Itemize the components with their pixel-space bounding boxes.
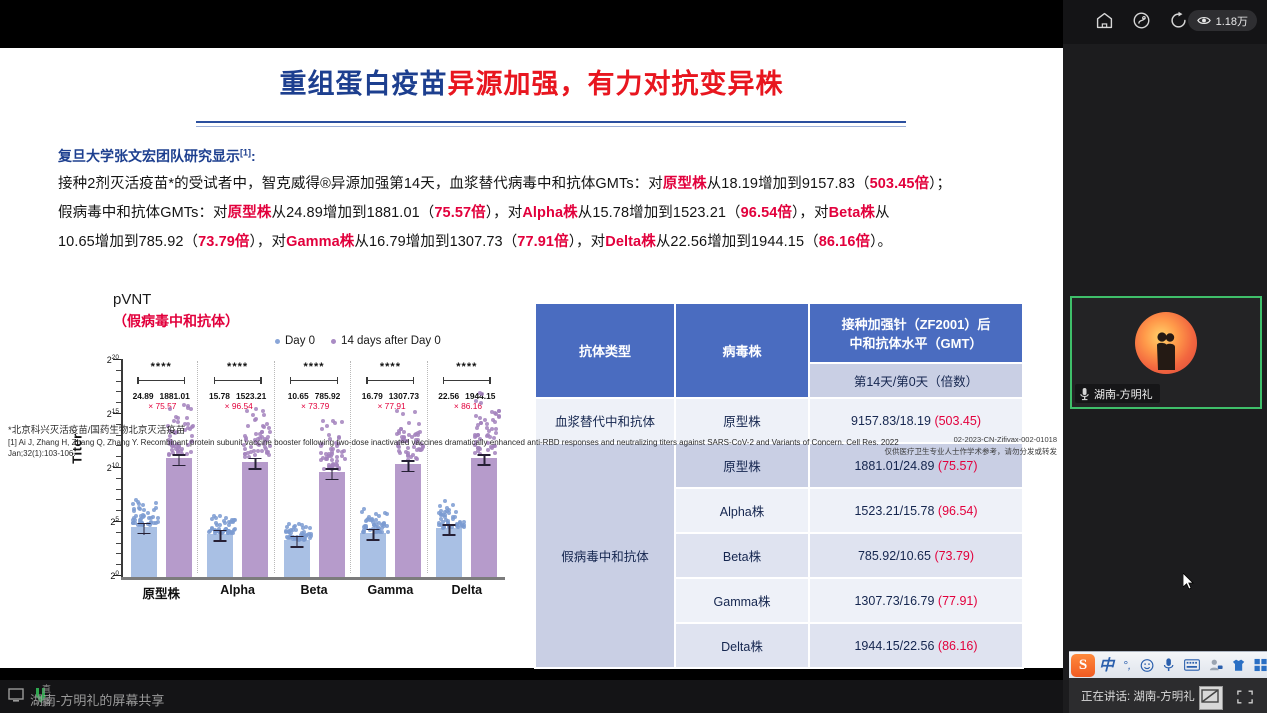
footnote-code-block: 02-2023-CN-Zifivax-002-01018 仅供医疗卫生专业人士作… <box>885 434 1058 458</box>
value-fold: (96.54) <box>938 504 978 518</box>
x-tick-label: Gamma <box>352 583 428 602</box>
body-l3-f3: 73.79倍 <box>198 234 249 250</box>
data-point <box>185 416 189 420</box>
y-minor-tick <box>116 381 121 382</box>
table-cell-value: 1307.73/16.79 (77.91) <box>809 578 1023 623</box>
bar-day14 <box>319 472 345 577</box>
data-point <box>497 409 501 413</box>
data-point <box>380 530 384 534</box>
sogou-logo-icon[interactable]: S <box>1071 654 1095 677</box>
body-l3f: ）。 <box>870 234 892 250</box>
data-point <box>208 529 212 533</box>
value-text: 1944.15/22.56 <box>854 639 934 653</box>
value-fold: (75.57) <box>938 459 978 473</box>
ime-user-icon[interactable] <box>1209 658 1223 672</box>
speaking-status-label: 正在讲话: 湖南-方明礼 <box>1069 688 1195 704</box>
y-minor-tick <box>116 489 121 490</box>
data-point <box>437 511 441 515</box>
bar-day14 <box>166 458 192 577</box>
body-l1-fold: 503.45倍 <box>870 176 930 192</box>
chart-title: pVNT <box>113 291 151 308</box>
data-point <box>418 430 422 434</box>
data-point <box>382 524 386 528</box>
body-l2f: 从 <box>875 205 890 221</box>
y-major-tick <box>113 575 121 576</box>
table-cell-type: 假病毒中和抗体 <box>535 443 675 668</box>
data-point <box>261 424 265 428</box>
chart-group: ****10.65785.92× 73.79 <box>276 359 352 577</box>
data-point <box>321 419 325 423</box>
data-point <box>320 427 324 431</box>
data-point <box>333 421 337 425</box>
data-point <box>309 534 313 538</box>
gmt-table: 抗体类型 病毒株 接种加强针（ZF2001）后 中和抗体水平（GMT） 第14天… <box>534 302 1024 669</box>
data-point <box>480 392 484 396</box>
data-point <box>437 523 441 527</box>
ime-emoji-icon[interactable] <box>1140 658 1154 673</box>
data-point <box>360 510 364 514</box>
data-point <box>413 410 417 414</box>
data-point <box>493 420 497 424</box>
body-l3b: ），对 <box>250 234 287 250</box>
ime-voice-input-icon[interactable] <box>1163 657 1174 673</box>
mouse-cursor <box>1183 573 1195 591</box>
body-l3c: 从16.79增加到1307.73（ <box>354 234 517 250</box>
avatar <box>1135 312 1197 374</box>
title-underline-thin <box>196 126 906 127</box>
value-fold: (503.45) <box>934 414 981 428</box>
y-minor-tick <box>116 478 121 479</box>
x-tick-label: Alpha <box>199 583 275 602</box>
bar-pair <box>123 359 199 577</box>
title-underline <box>196 121 906 123</box>
data-point <box>154 501 158 505</box>
table-cell-value: 1944.15/22.56 (86.16) <box>809 623 1023 668</box>
chart-group: ****16.791307.73× 77.91 <box>352 359 428 577</box>
data-point <box>152 508 156 512</box>
eye-icon <box>1197 15 1211 26</box>
bar-day0 <box>207 534 233 577</box>
body-l3a: 10.65增加到785.92（ <box>58 234 198 250</box>
data-point <box>362 507 366 511</box>
data-point <box>407 421 411 425</box>
data-point <box>254 407 258 411</box>
data-point <box>287 522 291 526</box>
data-point <box>297 522 301 526</box>
legend-item-day14: 14 days after Day 0 <box>331 335 441 347</box>
body-l2d: 从15.78增加到1523.21（ <box>578 205 741 221</box>
body-l3e: 从22.56增加到1944.15（ <box>656 234 819 250</box>
bar-day14 <box>395 464 421 577</box>
lead-superscript: [1] <box>240 147 251 157</box>
body-l3-s4: Gamma株 <box>286 234 354 250</box>
data-point <box>168 407 172 411</box>
body-l2a: 假病毒中和抗体GMTs：对 <box>58 205 228 221</box>
refresh-icon[interactable] <box>1169 11 1188 30</box>
ime-soft-keyboard-icon[interactable] <box>1184 659 1200 671</box>
title-part-blue: 重组蛋白疫苗 <box>280 69 448 99</box>
data-point <box>438 504 442 508</box>
ime-apps-icon[interactable] <box>1254 658 1267 672</box>
top-toolbar-icons <box>1095 11 1188 30</box>
data-point <box>417 422 421 426</box>
body-l1-strain: 原型株 <box>663 176 707 192</box>
data-point <box>443 499 447 503</box>
x-tick-label: Delta <box>429 583 505 602</box>
chart-plot-area: Titer 220 215 210 25 20 <box>75 359 505 601</box>
data-point <box>190 425 194 429</box>
y-minor-tick <box>116 510 121 511</box>
legend-swatch-day0-icon <box>275 339 280 344</box>
body-l2-s2: Alpha株 <box>522 205 577 221</box>
shared-screen-area: 重组蛋白疫苗异源加强，有力对抗变异株 复旦大学张文宏团队研究显示[1]: 接种2… <box>0 0 1063 713</box>
sogou-ime-toolbar[interactable]: S 中 °, <box>1069 651 1267 678</box>
chart-groups: ****24.891881.01× 75.57****15.781523.21×… <box>123 359 505 577</box>
data-point <box>325 424 329 428</box>
error-bar <box>401 460 414 472</box>
data-point <box>301 526 305 530</box>
top-toolbar: 1.18万 <box>1063 0 1267 44</box>
participant-video-tile[interactable]: 湖南-方明礼 <box>1070 296 1262 409</box>
material-code: 02-2023-CN-Zifivax-002-01018 <box>885 434 1058 446</box>
data-point <box>146 511 150 515</box>
y-minor-tick <box>116 391 121 392</box>
data-point <box>156 520 160 524</box>
chart-group: ****24.891881.01× 75.57 <box>123 359 199 577</box>
ime-chinese-mode-icon[interactable]: 中 <box>1099 658 1114 673</box>
data-point <box>254 417 258 421</box>
y-major-tick <box>113 467 121 468</box>
x-tick-label: Beta <box>276 583 352 602</box>
ime-punctuation-icon[interactable]: °, <box>1123 659 1131 671</box>
data-point <box>474 399 478 403</box>
legend-label-day14: 14 days after Day 0 <box>341 335 441 347</box>
data-point <box>454 510 458 514</box>
data-point <box>385 524 389 528</box>
lead-heading: 复旦大学张文宏团队研究显示[1]: <box>58 146 256 166</box>
data-point <box>134 498 138 502</box>
error-bar <box>249 458 262 470</box>
stop-share-button[interactable] <box>1199 686 1223 710</box>
fullscreen-icon[interactable] <box>1237 690 1253 704</box>
footnote-asterisk: *北京科兴灭活疫苗/国药生物北京灭活疫苗 <box>8 422 185 436</box>
bar-pair <box>199 359 275 577</box>
data-point <box>214 516 218 520</box>
table-cell-strain: Delta株 <box>675 623 809 668</box>
viewer-count-label: 1.18万 <box>1216 13 1248 29</box>
error-bar <box>137 523 150 535</box>
data-point <box>361 530 365 534</box>
body-l2-s3: Beta株 <box>829 205 875 221</box>
data-point <box>245 409 249 413</box>
data-point <box>210 517 214 521</box>
body-l2-s1: 原型株 <box>228 205 272 221</box>
y-minor-tick <box>116 564 121 565</box>
body-l2-f1: 75.57倍 <box>434 205 485 221</box>
home-icon[interactable] <box>1095 11 1114 30</box>
table-subheader-ratio: 第14天/第0天（倍数） <box>809 363 1023 398</box>
chart-legend: Day 0 14 days after Day 0 <box>275 335 441 347</box>
value-fold: (77.91) <box>938 594 978 608</box>
value-text: 1881.01/24.89 <box>854 459 934 473</box>
data-point <box>230 518 234 522</box>
y-minor-tick <box>116 543 121 544</box>
error-bar <box>325 468 338 480</box>
value-text: 9157.83/18.19 <box>851 414 931 428</box>
participant-name-badge: 湖南-方明礼 <box>1075 384 1160 403</box>
legend-item-day0: Day 0 <box>275 335 315 347</box>
lead-colon: : <box>251 148 256 164</box>
body-l2b: 从24.89增加到1881.01（ <box>271 205 434 221</box>
data-point <box>490 427 494 431</box>
no-share-icon <box>1200 687 1220 707</box>
body-l1c: ）； <box>929 176 951 192</box>
data-point <box>445 506 449 510</box>
data-point <box>335 459 339 463</box>
data-point <box>308 526 312 530</box>
body-l3-s5: Delta株 <box>605 234 656 250</box>
data-point <box>401 412 405 416</box>
data-point <box>402 430 406 434</box>
footnote-reference: [1] Ai J, Zhang H, Zhang Q, Zhang Y. Rec… <box>8 437 908 459</box>
y-minor-tick <box>116 532 121 533</box>
chart-group: ****22.561944.15× 86.16 <box>429 359 505 577</box>
data-point <box>478 416 482 420</box>
microphone-icon <box>1079 387 1090 401</box>
data-point <box>268 430 272 434</box>
data-point <box>479 401 483 405</box>
y-minor-tick <box>116 370 121 371</box>
chart-x-tick-labels: 原型株AlphaBetaGammaDelta <box>123 583 505 602</box>
presentation-slide: 重组蛋白疫苗异源加强，有力对抗变异株 复旦大学张文宏团队研究显示[1]: 接种2… <box>0 48 1063 668</box>
silhouette-icon <box>1151 328 1181 372</box>
data-point <box>462 523 466 527</box>
error-bar <box>290 536 303 548</box>
data-point <box>374 512 378 516</box>
y-minor-tick <box>116 553 121 554</box>
body-l3d: ），对 <box>569 234 606 250</box>
participant-name-label: 湖南-方明礼 <box>1094 386 1153 402</box>
table-header-gmt-line1: 接种加强针（ZF2001）后 <box>814 314 1018 333</box>
data-point <box>476 423 480 427</box>
page-title: 重组蛋白疫苗异源加强，有力对抗变异株 <box>0 70 1063 100</box>
table-header-antibody-type: 抗体类型 <box>535 303 675 398</box>
body-l3-f5: 86.16倍 <box>819 234 870 250</box>
data-point <box>189 407 193 411</box>
bar-pair <box>276 359 352 577</box>
value-text: 1523.21/15.78 <box>854 504 934 518</box>
table-cell-strain: Gamma株 <box>675 578 809 623</box>
chart-x-axis-line <box>121 577 505 580</box>
bar-day0 <box>360 533 386 577</box>
ime-skin-icon[interactable] <box>1232 658 1245 672</box>
body-l2e: ），对 <box>792 205 829 221</box>
table-cell-value: 785.92/10.65 (73.79) <box>809 533 1023 578</box>
body-l2c: ），对 <box>486 205 523 221</box>
chart-group: ****15.781523.21× 96.54 <box>199 359 275 577</box>
value-text: 785.92/10.65 <box>858 549 931 563</box>
body-paragraph: 接种2剂灭活疫苗*的受试者中，智克威得®异源加强第14天，血浆替代病毒中和抗体G… <box>58 170 1033 257</box>
data-point <box>246 424 250 428</box>
y-major-tick <box>113 359 121 360</box>
bar-pair <box>352 359 428 577</box>
error-bar <box>214 530 227 542</box>
table-header-strain: 病毒株 <box>675 303 809 398</box>
table-header-gmt: 接种加强针（ZF2001）后 中和抗体水平（GMT） <box>809 303 1023 363</box>
data-point <box>486 433 490 437</box>
table-cell-strain: Beta株 <box>675 533 809 578</box>
body-l1b: 从18.19增加到9157.83（ <box>707 176 870 192</box>
disclaimer-text: 仅供医疗卫生专业人士作学术参考，请勿分发或转发 <box>885 446 1058 458</box>
table-cell-value: 1523.21/15.78 (96.54) <box>809 488 1023 533</box>
data-point <box>131 502 135 506</box>
data-point <box>149 516 153 520</box>
data-point <box>395 409 399 413</box>
data-point <box>453 515 457 519</box>
data-point <box>132 516 136 520</box>
bar-day14 <box>242 462 268 577</box>
data-point <box>340 420 344 424</box>
y-minor-tick <box>116 402 121 403</box>
legend-label-day0: Day 0 <box>285 335 315 347</box>
body-l3-f4: 77.91倍 <box>517 234 568 250</box>
monitor-icon <box>8 687 30 705</box>
value-text: 1307.73/16.79 <box>854 594 934 608</box>
table-cell-strain: Alpha株 <box>675 488 809 533</box>
data-point <box>490 410 494 414</box>
screen-share-label: 湖南-方明礼的屏幕共享 <box>30 690 164 709</box>
y-major-tick <box>113 521 121 522</box>
data-point <box>451 503 455 507</box>
bar-day0 <box>131 527 157 578</box>
data-point <box>443 510 447 514</box>
data-point <box>141 503 145 507</box>
error-bar <box>366 529 379 541</box>
data-point <box>228 530 232 534</box>
data-point <box>224 516 228 520</box>
table-header-gmt-line2: 中和抗体水平（GMT） <box>814 333 1018 352</box>
data-point <box>218 514 222 518</box>
y-major-tick <box>113 413 121 414</box>
data-point <box>494 431 498 435</box>
data-point <box>182 403 186 407</box>
title-part-red: 异源加强，有力对抗变异株 <box>448 69 784 99</box>
bar-day0 <box>284 540 310 577</box>
value-fold: (86.16) <box>938 639 978 653</box>
bar-pair <box>429 359 505 577</box>
body-l2-f2: 96.54倍 <box>741 205 792 221</box>
lead-text: 复旦大学张文宏团队研究显示 <box>58 148 240 164</box>
data-point <box>132 509 136 513</box>
y-minor-tick <box>116 499 121 500</box>
body-l1a: 接种2剂灭活疫苗*的受试者中，智克威得®异源加强第14天，血浆替代病毒中和抗体G… <box>58 176 663 192</box>
legend-swatch-day14-icon <box>331 339 336 344</box>
mini-program-icon[interactable] <box>1132 11 1151 30</box>
data-point <box>262 413 266 417</box>
bar-day0 <box>436 528 462 577</box>
data-point <box>227 523 231 527</box>
data-point <box>142 508 146 512</box>
bar-day14 <box>471 458 497 577</box>
table-header-row: 抗体类型 病毒株 接种加强针（ZF2001）后 中和抗体水平（GMT） <box>535 303 1023 363</box>
chart-subtitle: （假病毒中和抗体） <box>113 311 239 331</box>
data-point <box>386 530 390 534</box>
viewer-count-pill: 1.18万 <box>1188 10 1257 31</box>
value-fold: (73.79) <box>934 549 974 563</box>
error-bar <box>443 524 456 536</box>
screen-root: 重组蛋白疫苗异源加强，有力对抗变异株 复旦大学张文宏团队研究显示[1]: 接种2… <box>0 0 1267 713</box>
x-tick-label: 原型株 <box>123 583 199 602</box>
